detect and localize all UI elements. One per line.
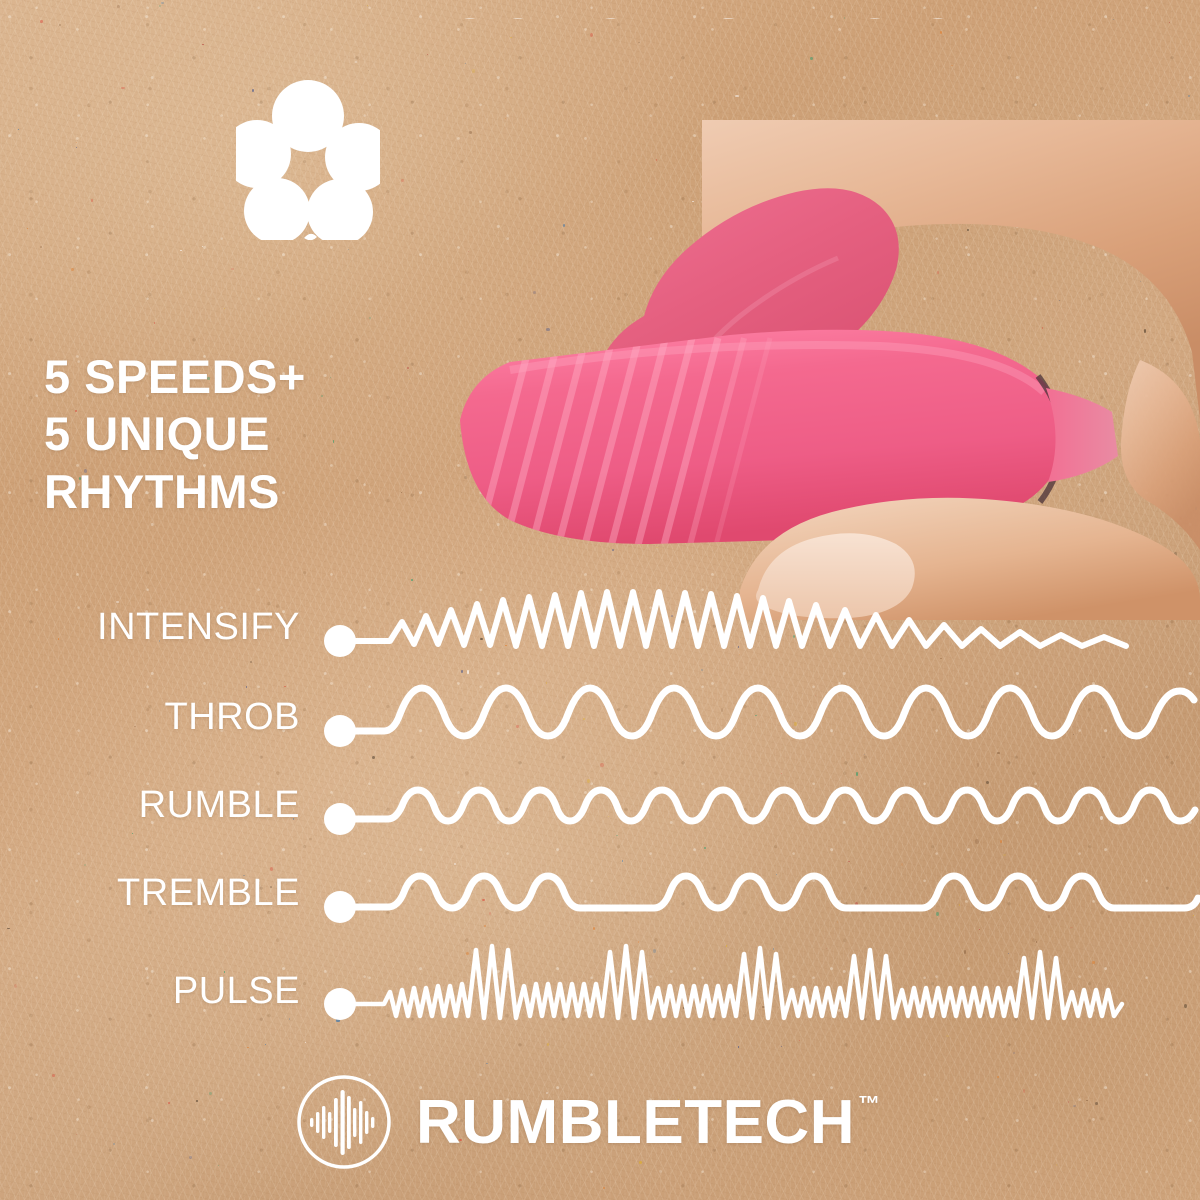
product-photo xyxy=(440,120,1200,620)
rhythm-row-pulse[interactable]: PULSE xyxy=(0,940,1200,1032)
brand-name-text: RUMBLETECH xyxy=(416,1087,855,1158)
rhythm-label-intensify: INTENSIFY xyxy=(0,606,300,649)
rhythm-row-tremble[interactable]: TREMBLE xyxy=(0,854,1200,946)
five-circle-grip-icon xyxy=(236,78,380,240)
rhythm-row-throb[interactable]: THROB xyxy=(0,678,1200,770)
rhythm-wave-rumble xyxy=(318,766,1200,858)
rhythm-label-rumble: RUMBLE xyxy=(0,784,300,827)
rhythm-wave-throb xyxy=(318,678,1200,770)
brand-name: RUMBLETECH ™ xyxy=(416,1087,880,1158)
trademark-symbol: ™ xyxy=(858,1091,881,1117)
rhythm-label-throb: THROB xyxy=(0,696,300,739)
rhythm-list: INTENSIFY THROB RUMBLE TREMBLE xyxy=(0,588,1200,1038)
rhythm-wave-intensify xyxy=(318,588,1200,680)
brand-lockup: RUMBLETECH ™ xyxy=(296,1074,880,1170)
headline-text: ERGONOMIC DESIGN xyxy=(360,18,1007,31)
rhythm-label-tremble: TREMBLE xyxy=(0,872,300,915)
rhythm-wave-tremble xyxy=(318,854,1200,946)
end-cap xyxy=(1046,388,1118,482)
rhythm-label-pulse: PULSE xyxy=(0,970,300,1013)
palm-edge xyxy=(1121,360,1200,550)
rhythm-wave-pulse xyxy=(318,940,1200,1050)
rumbletech-waveform-icon xyxy=(296,1074,392,1170)
poster-canvas: ERGONOMIC DESIGN xyxy=(0,0,1200,1200)
rhythm-row-intensify[interactable]: INTENSIFY xyxy=(0,588,1200,680)
rhythm-dot xyxy=(324,988,356,1020)
rhythm-row-rumble[interactable]: RUMBLE xyxy=(0,766,1200,858)
feature-headline: 5 SPEEDS+ 5 UNIQUE RHYTHMS xyxy=(44,348,306,520)
